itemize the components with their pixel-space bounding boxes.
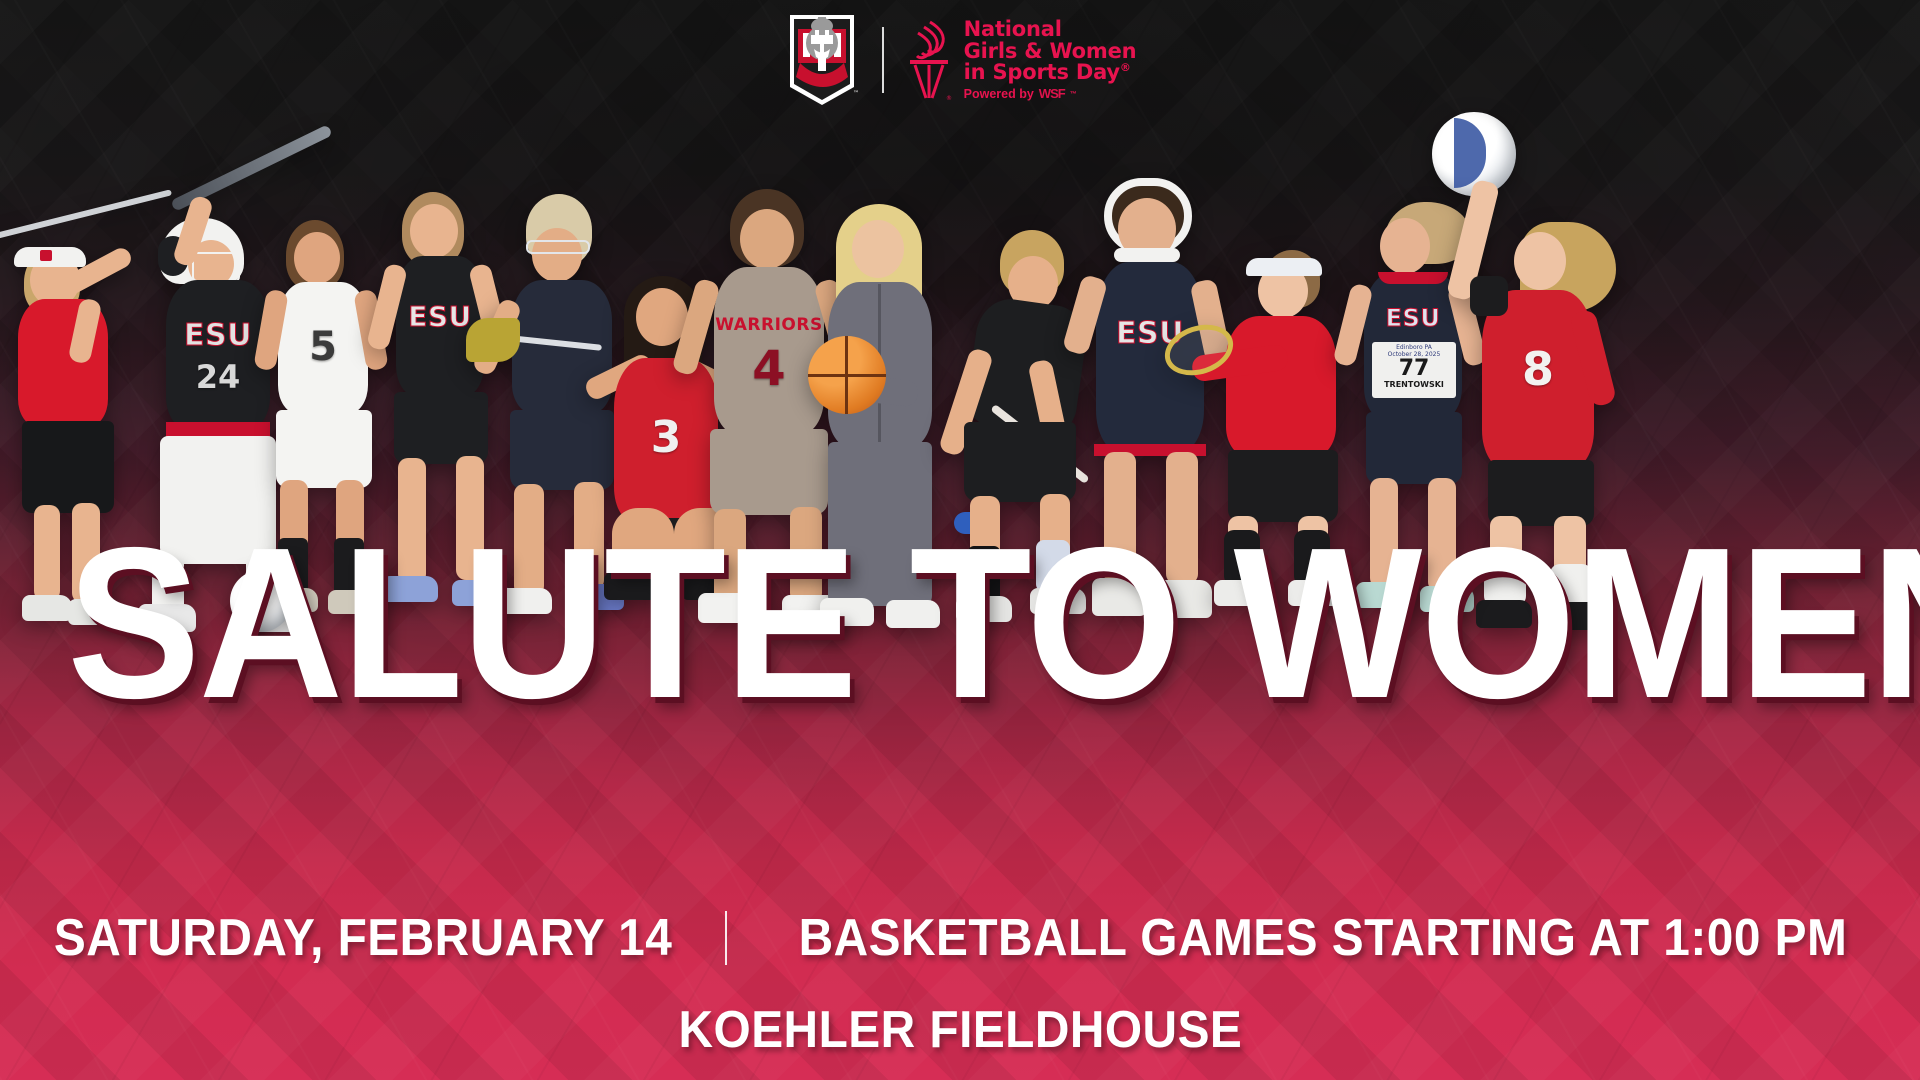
head bbox=[532, 228, 582, 282]
poster-canvas: ™ ® bbox=[0, 0, 1920, 1080]
event-time: BASKETBALL GAMES STARTING AT 1:00 PM bbox=[799, 908, 1848, 968]
jersey-number: 5 bbox=[278, 324, 368, 370]
ngwsd-line-3-text: in Sports Day bbox=[964, 60, 1120, 84]
event-venue-line: KOEHLER FIELDHOUSE bbox=[0, 1000, 1920, 1060]
head bbox=[410, 204, 458, 258]
logo-bar: ™ ® bbox=[0, 8, 1920, 112]
ngwsd-wordmark: National Girls & Women in Sports Day® Po… bbox=[964, 19, 1137, 100]
powered-by-label: Powered by bbox=[964, 88, 1034, 101]
head bbox=[740, 209, 794, 269]
detail-divider bbox=[725, 911, 727, 965]
ngwsd-line-2: Girls & Women bbox=[964, 41, 1137, 62]
ngwsd-logo: ® National Girls & Women in Sports Day® … bbox=[906, 18, 1137, 102]
venue-name: KOEHLER FIELDHOUSE bbox=[678, 1000, 1242, 1060]
head bbox=[852, 220, 904, 278]
wsf-brand-mark: WSF bbox=[1039, 87, 1065, 100]
headline-block: SALUTE TO WOMEN IN SPORTS bbox=[0, 528, 1920, 717]
head bbox=[1514, 232, 1566, 290]
head bbox=[294, 232, 340, 284]
face-cage bbox=[192, 252, 240, 282]
ngwsd-registered-mark: ® bbox=[1120, 61, 1131, 74]
bottom-shorts bbox=[276, 410, 372, 488]
chin-strap bbox=[1114, 248, 1180, 262]
ngwsd-line-3: in Sports Day® bbox=[964, 62, 1137, 83]
basketball-seam-v bbox=[845, 336, 848, 414]
lacrosse-head-mesh bbox=[466, 318, 520, 362]
esu-trademark: ™ bbox=[853, 90, 859, 97]
svg-text:®: ® bbox=[946, 95, 952, 102]
page-title: SALUTE TO WOMEN IN SPORTS bbox=[67, 528, 1853, 717]
torso-jersey bbox=[1226, 316, 1336, 458]
ngwsd-powered-by: Powered by WSF ™ bbox=[964, 87, 1137, 100]
wsf-trademark: ™ bbox=[1070, 91, 1077, 98]
esu-warriors-shield-logo: ™ bbox=[784, 13, 860, 107]
bottom-skirt bbox=[22, 421, 114, 513]
event-details-line: SATURDAY, FEBRUARY 14 BASKETBALL GAMES S… bbox=[0, 908, 1920, 968]
bottom-skirt bbox=[964, 422, 1076, 502]
jersey-neck-trim bbox=[1378, 272, 1448, 284]
head bbox=[1380, 218, 1430, 274]
torch-flame-icon: ® bbox=[906, 18, 952, 102]
event-date: SATURDAY, FEBRUARY 14 bbox=[54, 908, 672, 968]
tennis-visor-icon bbox=[1246, 258, 1322, 276]
cap-logo bbox=[40, 250, 52, 261]
logo-divider bbox=[882, 27, 884, 93]
ngwsd-line-1: National bbox=[964, 19, 1137, 40]
elbow-pad bbox=[1470, 276, 1508, 316]
